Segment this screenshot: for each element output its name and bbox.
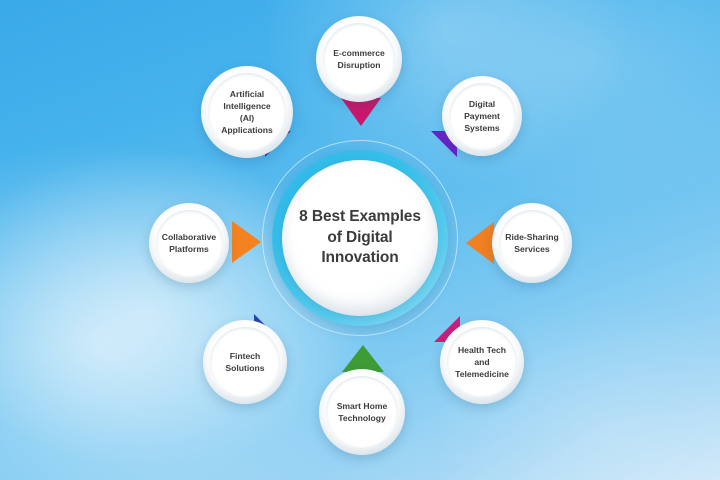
node-fintech-solutions[interactable]: Fintech Solutions: [203, 320, 287, 404]
node-ride-sharing-services[interactable]: Ride-Sharing Services: [492, 203, 572, 283]
node-label-artificial-intelligence-ai-applications: Artificial Intelligence (AI) Application…: [216, 88, 278, 137]
node-label-smart-home-technology: Smart Home Technology: [332, 400, 393, 424]
connector-triangle-orange-left: [466, 222, 494, 264]
connector-triangle-orange-right: [232, 221, 261, 263]
node-label-health-tech-and-telemedicine: Health Tech and Telemedicine: [450, 344, 514, 381]
connector-triangle-pink-down: [341, 98, 381, 126]
node-label-fintech-solutions: Fintech Solutions: [220, 350, 269, 374]
node-label-digital-payment-systems: Digital Payment Systems: [459, 98, 505, 135]
node-e-commerce-disruption[interactable]: E-commerce Disruption: [316, 16, 402, 102]
infographic-canvas: 8 Best Examples of Digital Innovation E-…: [0, 0, 720, 480]
node-smart-home-technology[interactable]: Smart Home Technology: [319, 369, 405, 455]
node-artificial-intelligence-ai-applications[interactable]: Artificial Intelligence (AI) Application…: [201, 66, 293, 158]
node-label-ride-sharing-services: Ride-Sharing Services: [500, 231, 563, 255]
hub-center: 8 Best Examples of Digital Innovation: [282, 160, 438, 316]
node-label-e-commerce-disruption: E-commerce Disruption: [328, 47, 390, 71]
connector-triangle-green-up: [342, 345, 384, 372]
page-title: 8 Best Examples of Digital Innovation: [282, 207, 438, 268]
node-health-tech-and-telemedicine[interactable]: Health Tech and Telemedicine: [440, 320, 524, 404]
node-label-collaborative-platforms: Collaborative Platforms: [157, 231, 221, 255]
node-collaborative-platforms[interactable]: Collaborative Platforms: [149, 203, 229, 283]
node-digital-payment-systems[interactable]: Digital Payment Systems: [442, 76, 522, 156]
